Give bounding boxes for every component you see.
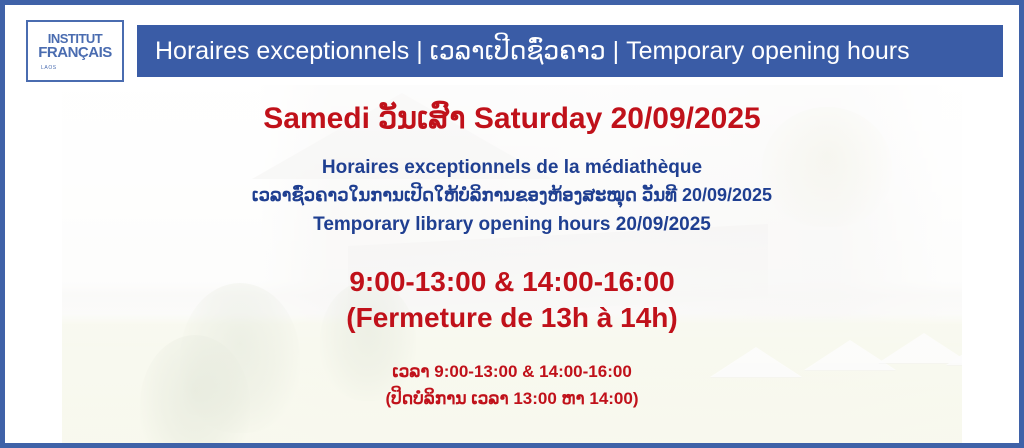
subline-french: Horaires exceptionnels de la médiathèque (5, 153, 1019, 182)
banner-title: Horaires exceptionnels | ເວລາເປີດຊົ່ວຄາວ… (137, 25, 1003, 77)
subline-english: Temporary library opening hours 20/09/20… (5, 210, 1019, 239)
opening-hours: 9:00-13:00 & 14:00-16:00 (Fermeture de 1… (5, 264, 1019, 336)
closure-note-lao: (ປິດບໍລິການ ເວລາ 13:00 ຫາ 14:00) (5, 386, 1019, 412)
main-content: Samedi ວັນເສົາ Saturday 20/09/2025 Horai… (5, 82, 1019, 412)
logo-line-francais: FRANÇAIS (38, 45, 112, 60)
headline-date: Samedi ວັນເສົາ Saturday 20/09/2025 (5, 102, 1019, 135)
opening-hours-line-lao: ເວລາ 9:00-13:00 & 14:00-16:00 (5, 359, 1019, 385)
opening-hours-line: 9:00-13:00 & 14:00-16:00 (5, 264, 1019, 300)
header: INSTITUT FRANÇAIS LAOS Horaires exceptio… (5, 5, 1019, 82)
institut-francais-logo: INSTITUT FRANÇAIS LAOS (26, 20, 124, 82)
poster: INSTITUT FRANÇAIS LAOS Horaires exceptio… (0, 0, 1024, 448)
logo-line-institut: INSTITUT (48, 32, 103, 45)
logo-country-label: LAOS (41, 65, 57, 71)
closure-note-french: (Fermeture de 13h à 14h) (5, 300, 1019, 336)
opening-hours-lao: ເວລາ 9:00-13:00 & 14:00-16:00 (ປິດບໍລິກາ… (5, 359, 1019, 412)
subline-lao: ເວລາຊົ່ວຄາວໃນການເປີດໃຫ້ບໍລິການຂອງຫ້ອງສະໝ… (5, 182, 1019, 210)
